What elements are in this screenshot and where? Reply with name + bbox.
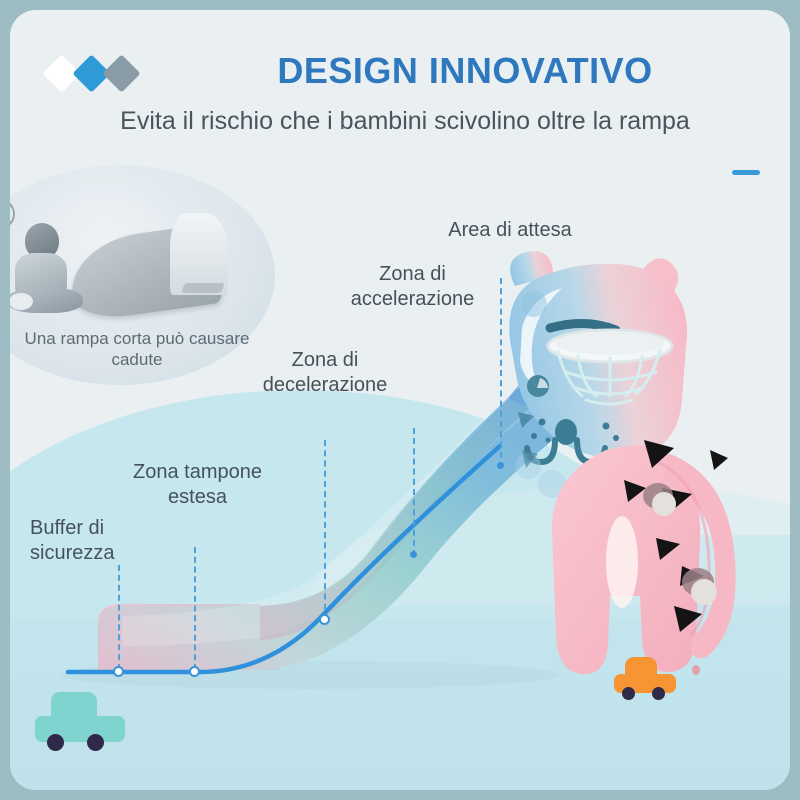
content-panel: DESIGN INNOVATIVO Evita il rischio che i… [10, 10, 790, 790]
infographic-root: DESIGN INNOVATIVO Evita il rischio che i… [0, 0, 800, 800]
trajectory-marker-2 [189, 666, 200, 677]
label-acceleration-zone: Zona di accelerazione [310, 262, 515, 312]
trajectory-marker-5 [497, 462, 504, 469]
divider-line-2 [194, 547, 196, 670]
label-waiting-area: Area di attesa [405, 218, 615, 243]
label-extended-buffer: Zona tampone estesa [95, 460, 300, 510]
animal-body [552, 440, 736, 675]
trajectory-marker-1 [113, 666, 124, 677]
trajectory-marker-3 [319, 614, 330, 625]
label-safety-buffer: Buffer di sicurezza [30, 516, 180, 566]
toy-car-teal-wheel-rear [87, 734, 104, 751]
divider-line-1 [118, 565, 120, 670]
divider-line-3 [324, 440, 326, 620]
divider-line-4 [413, 428, 415, 556]
toy-car-orange [614, 657, 676, 703]
label-deceleration-zone: Zona di decelerazione [225, 348, 425, 398]
toy-car-teal [35, 692, 125, 754]
toy-car-orange-wheel-rear [652, 687, 665, 700]
toy-car-teal-wheel-front [47, 734, 64, 751]
trajectory-marker-4 [410, 551, 417, 558]
toy-car-orange-wheel-front [622, 687, 635, 700]
